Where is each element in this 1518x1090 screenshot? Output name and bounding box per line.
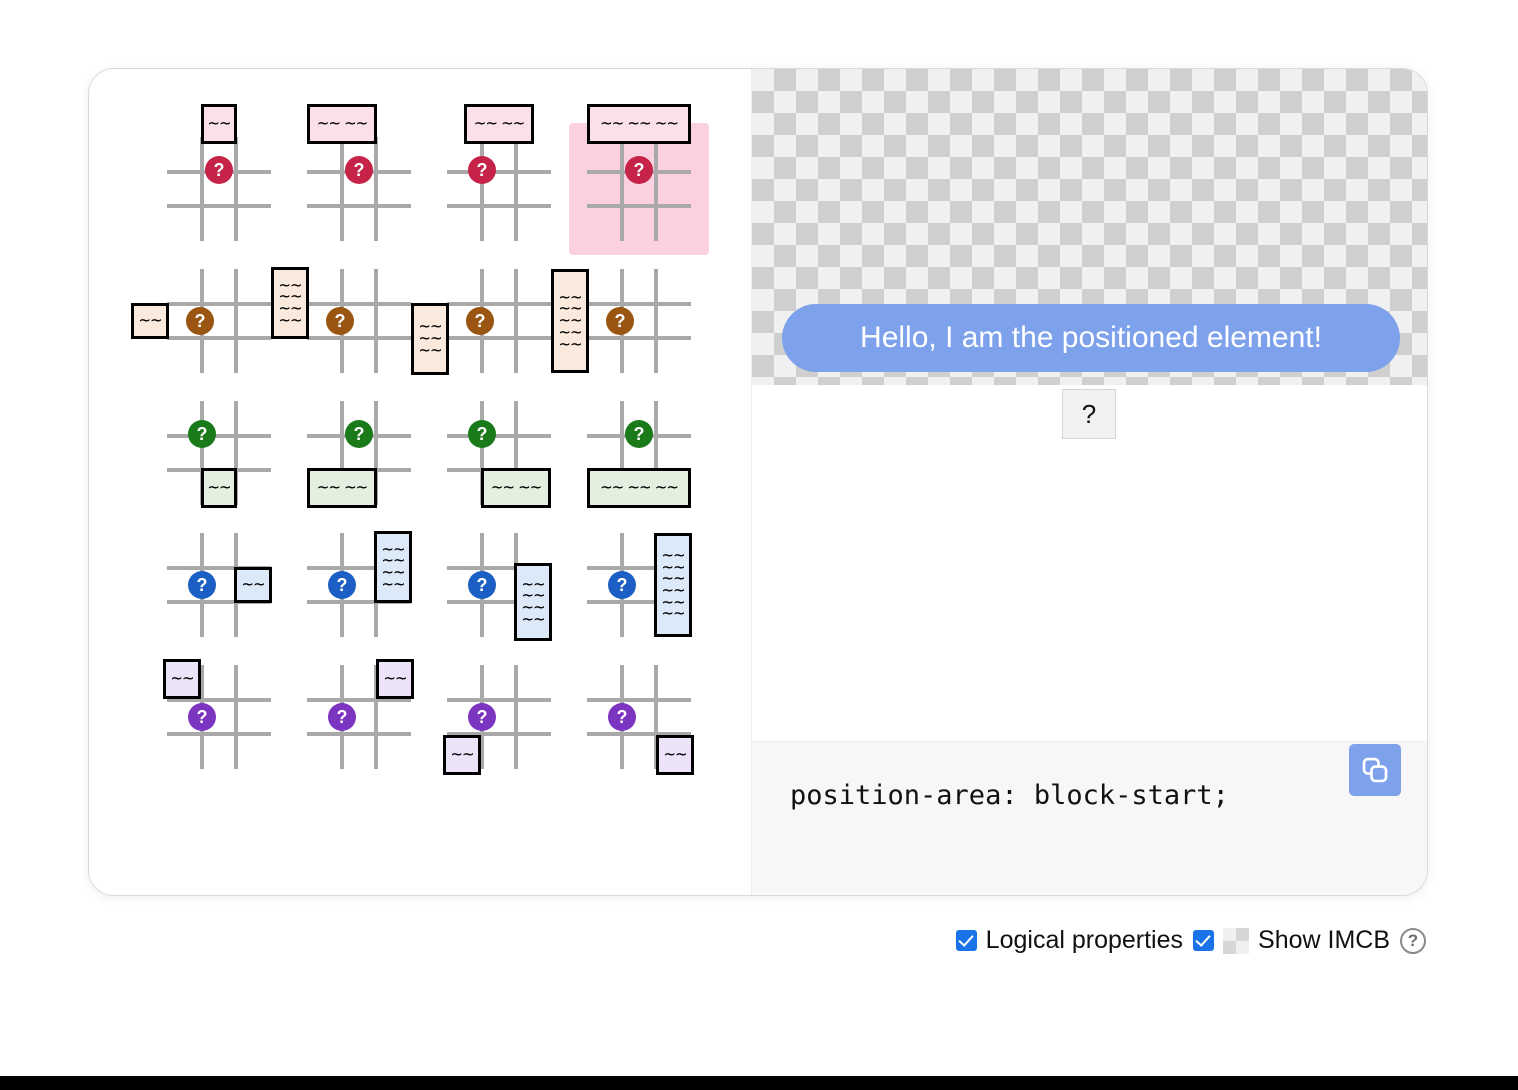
anchor-badge: ? xyxy=(606,307,634,335)
position-area-option[interactable]: ~~ ~~? xyxy=(429,387,569,519)
anchor-badge: ? xyxy=(328,703,356,731)
position-area-option[interactable]: ~~? xyxy=(149,519,289,651)
position-area-option[interactable]: ~~~~~~~~~~? xyxy=(569,255,709,387)
containing-block-grid: ~~? xyxy=(167,137,271,241)
anchor-badge: ? xyxy=(625,156,653,184)
containing-block-grid: ~~? xyxy=(447,665,551,769)
containing-block-grid: ~~ ~~? xyxy=(447,401,551,505)
anchor-badge: ? xyxy=(466,307,494,335)
containing-block-grid: ~~~~~~~~~~~~? xyxy=(587,533,691,637)
show-imcb-checkbox[interactable] xyxy=(1193,930,1214,951)
logical-properties-checkbox[interactable] xyxy=(956,930,977,951)
position-area-option[interactable]: ~~? xyxy=(149,255,289,387)
copy-button[interactable] xyxy=(1349,744,1401,796)
containing-block-grid: ~~~~~~~~~~? xyxy=(587,269,691,373)
positioned-box: ~~~~~~~~~~~~ xyxy=(654,533,692,637)
anchor-badge: ? xyxy=(326,307,354,335)
copy-icon xyxy=(1360,755,1390,785)
positioned-box: ~~~~~~ xyxy=(411,303,449,375)
containing-block-grid: ~~~~~~~~? xyxy=(307,269,411,373)
containing-block-grid: ~~~~~~? xyxy=(447,269,551,373)
show-imcb-toggle[interactable]: Show IMCB xyxy=(1193,926,1390,955)
preview-panel: Hello, I am the positioned element! ? po… xyxy=(751,69,1427,895)
containing-block-grid: ~~ ~~ ~~? xyxy=(587,137,691,241)
containing-block-grid: ~~? xyxy=(587,665,691,769)
positioned-box: ~~ xyxy=(201,104,237,144)
positioned-box: ~~ xyxy=(443,735,481,775)
position-area-option[interactable]: ~~ ~~ ~~? xyxy=(569,387,709,519)
positioned-element-bubble: Hello, I am the positioned element! xyxy=(782,304,1400,372)
positioned-box: ~~ xyxy=(234,567,272,603)
anchor-badge: ? xyxy=(188,703,216,731)
containing-block-grid: ~~ ~~? xyxy=(307,137,411,241)
anchor-badge: ? xyxy=(188,420,216,448)
containing-block-grid: ~~? xyxy=(167,533,271,637)
anchor-badge: ? xyxy=(188,571,216,599)
anchor-badge: ? xyxy=(345,420,373,448)
position-area-option[interactable]: ~~~~~~~~? xyxy=(289,255,429,387)
containing-block-grid: ~~? xyxy=(167,665,271,769)
position-area-option[interactable]: ~~? xyxy=(149,651,289,783)
positioned-box: ~~~~~~~~ xyxy=(514,563,552,641)
position-area-option[interactable]: ~~~~~~~~? xyxy=(289,519,429,651)
positioned-box: ~~ ~~ xyxy=(307,104,377,144)
containing-block-grid: ~~ ~~ ~~? xyxy=(587,401,691,505)
positioned-box: ~~ xyxy=(163,659,201,699)
containing-block-grid: ~~ ~~? xyxy=(447,137,551,241)
help-icon[interactable]: ? xyxy=(1400,928,1426,954)
position-area-option[interactable]: ~~ ~~? xyxy=(429,123,569,255)
position-area-option[interactable]: ~~~~~~~~? xyxy=(429,519,569,651)
positioned-box: ~~~~~~~~ xyxy=(374,531,412,603)
positioned-box: ~~ ~~ ~~ xyxy=(587,468,691,508)
anchor-element[interactable]: ? xyxy=(1062,389,1116,439)
containing-block-grid: ~~? xyxy=(167,269,271,373)
position-area-option[interactable]: ~~? xyxy=(149,123,289,255)
position-area-option[interactable]: ~~? xyxy=(429,651,569,783)
picker-panel: ~~?~~ ~~?~~ ~~?~~ ~~ ~~?~~?~~~~~~~~?~~~~… xyxy=(89,69,751,895)
containing-block-grid: ~~~~~~~~? xyxy=(447,533,551,637)
app-root: ~~?~~ ~~?~~ ~~?~~ ~~ ~~?~~?~~~~~~~~?~~~~… xyxy=(0,0,1518,1090)
containing-block-grid: ~~ ~~? xyxy=(307,401,411,505)
css-code-text: position-area: block-start; xyxy=(790,780,1229,811)
positioned-box: ~~ xyxy=(656,735,694,775)
position-area-option[interactable]: ~~ ~~? xyxy=(289,123,429,255)
position-area-picker[interactable]: ~~?~~ ~~?~~ ~~?~~ ~~ ~~?~~?~~~~~~~~?~~~~… xyxy=(149,123,709,783)
position-area-option[interactable]: ~~? xyxy=(569,651,709,783)
positioned-box: ~~~~~~~~ xyxy=(271,267,309,339)
positioned-box: ~~ xyxy=(376,659,414,699)
anchor-badge: ? xyxy=(205,156,233,184)
position-area-option[interactable]: ~~~~~~? xyxy=(429,255,569,387)
positioned-box: ~~ ~~ xyxy=(307,468,377,508)
logical-properties-label: Logical properties xyxy=(986,926,1183,955)
anchor-badge: ? xyxy=(608,571,636,599)
position-area-option[interactable]: ~~~~~~~~~~~~? xyxy=(569,519,709,651)
containing-block-grid: ~~? xyxy=(167,401,271,505)
visualizer-card: ~~?~~ ~~?~~ ~~?~~ ~~ ~~?~~?~~~~~~~~?~~~~… xyxy=(88,68,1428,896)
anchor-badge: ? xyxy=(468,703,496,731)
containing-block-grid: ~~~~~~~~? xyxy=(307,533,411,637)
anchor-badge: ? xyxy=(328,571,356,599)
anchor-badge: ? xyxy=(468,156,496,184)
anchor-badge: ? xyxy=(608,703,636,731)
bottom-strip xyxy=(0,1076,1518,1090)
code-panel: position-area: block-start; xyxy=(752,741,1427,895)
positioned-box: ~~ xyxy=(131,303,169,339)
options-row: Logical properties Show IMCB ? xyxy=(956,926,1426,955)
containing-block-grid: ~~? xyxy=(307,665,411,769)
show-imcb-label: Show IMCB xyxy=(1258,926,1390,955)
positioned-box: ~~ ~~ ~~ xyxy=(587,104,691,144)
anchor-badge: ? xyxy=(186,307,214,335)
position-area-option[interactable]: ~~ ~~ ~~? xyxy=(569,123,709,255)
positioned-box: ~~~~~~~~~~ xyxy=(551,269,589,373)
anchor-badge: ? xyxy=(468,420,496,448)
positioned-box: ~~ ~~ xyxy=(464,104,534,144)
position-area-option[interactable]: ~~? xyxy=(289,651,429,783)
position-area-option[interactable]: ~~ ~~? xyxy=(289,387,429,519)
anchor-badge: ? xyxy=(468,571,496,599)
anchor-badge: ? xyxy=(345,156,373,184)
position-area-option[interactable]: ~~? xyxy=(149,387,289,519)
positioned-box: ~~ xyxy=(201,468,237,508)
imcb-color-swatch xyxy=(1223,928,1249,954)
logical-properties-toggle[interactable]: Logical properties xyxy=(956,926,1183,955)
anchor-badge: ? xyxy=(625,420,653,448)
positioned-box: ~~ ~~ xyxy=(481,468,551,508)
